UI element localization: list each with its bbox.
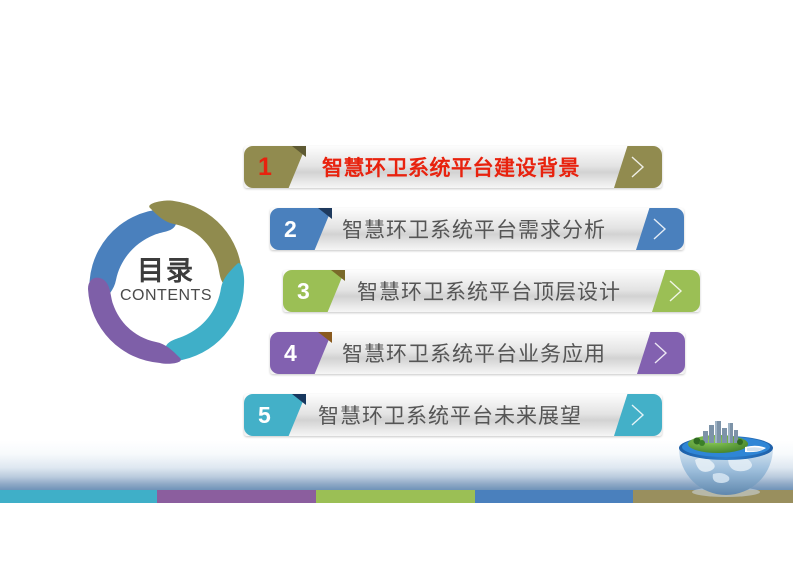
chevron-right-icon xyxy=(628,403,648,427)
contents-item-4[interactable]: 4智慧环卫系统平台业务应用 xyxy=(270,332,685,374)
contents-item-label: 智慧环卫系统平台业务应用 xyxy=(342,332,606,374)
contents-item-label: 智慧环卫系统平台顶层设计 xyxy=(357,270,621,312)
footer-bar-segment-3 xyxy=(316,490,475,503)
contents-item-number: 3 xyxy=(297,280,310,303)
contents-item-number: 5 xyxy=(258,404,271,427)
contents-item-2[interactable]: 2智慧环卫系统平台需求分析 xyxy=(270,208,684,250)
chevron-right-icon xyxy=(628,155,648,179)
contents-logo-title: 目录 xyxy=(137,257,195,285)
contents-logo: 目录 CONTENTS xyxy=(78,193,254,369)
footer-bar-segment-1 xyxy=(0,490,157,503)
chevron-right-icon xyxy=(666,279,686,303)
contents-item-label: 智慧环卫系统平台需求分析 xyxy=(342,208,606,250)
contents-item-5[interactable]: 5智慧环卫系统平台未来展望 xyxy=(244,394,662,436)
footer-bar-segment-2 xyxy=(157,490,316,503)
contents-logo-text: 目录 CONTENTS xyxy=(78,193,254,369)
footer-bottom-margin xyxy=(0,503,793,512)
chevron-right-icon xyxy=(650,217,670,241)
chevron-right-icon xyxy=(651,341,671,365)
contents-item-number: 1 xyxy=(258,155,272,180)
footer-bar-segment-4 xyxy=(475,490,633,503)
contents-item-3[interactable]: 3智慧环卫系统平台顶层设计 xyxy=(283,270,700,312)
contents-item-number: 2 xyxy=(284,218,297,241)
contents-logo-subtitle: CONTENTS xyxy=(120,287,212,305)
earth-bowl-city-graphic xyxy=(673,418,779,498)
contents-item-1[interactable]: 1智慧环卫系统平台建设背景 xyxy=(244,146,662,188)
contents-item-number: 4 xyxy=(284,342,297,365)
contents-item-label: 智慧环卫系统平台建设背景 xyxy=(322,146,580,188)
slide-canvas: 目录 CONTENTS 1智慧环卫系统平台建设背景2智慧环卫系统平台需求分析3智… xyxy=(0,0,793,561)
contents-item-label: 智慧环卫系统平台未来展望 xyxy=(318,394,582,436)
